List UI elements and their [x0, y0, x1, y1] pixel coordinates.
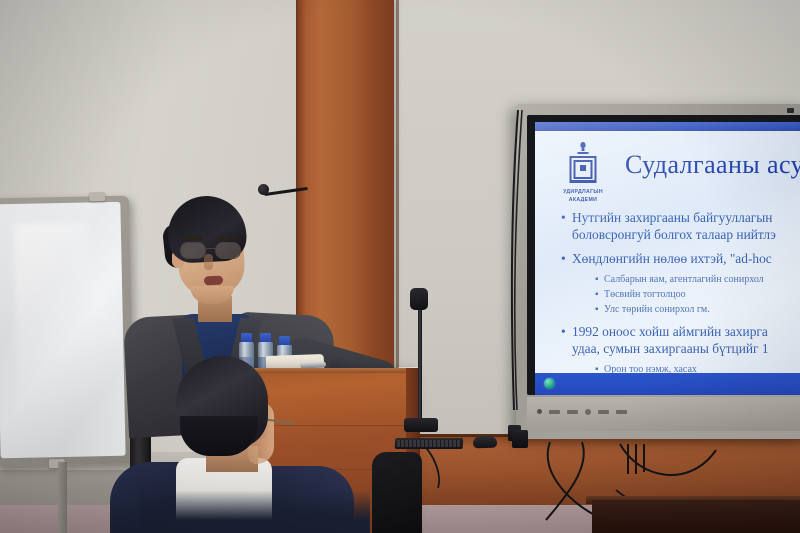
logo-line-2: АКАДЕМИ: [551, 196, 615, 204]
bullet-text: 1992 оноос хойш аймгийн захирга: [572, 324, 768, 339]
whiteboard: [0, 196, 135, 467]
source-button[interactable]: [567, 410, 578, 414]
slide-footer-bar: [535, 373, 800, 395]
slide-top-accent-bar: [535, 122, 800, 131]
whiteboard-glare: [14, 222, 92, 434]
camera-icon: [787, 108, 794, 113]
microphone-stand-base: [404, 418, 438, 432]
computer-mouse[interactable]: [473, 436, 497, 449]
sub-bullet-marker: ▪: [595, 303, 604, 317]
microphone-stand-pole: [418, 300, 422, 422]
logo-mark-icon: [568, 142, 598, 180]
logo-line-1: УДИРДЛАГЫН: [551, 188, 615, 196]
microphone-icon: [258, 184, 269, 195]
presenter-nose: [204, 254, 213, 270]
bullet-marker: •: [561, 251, 572, 268]
bullet-marker: •: [561, 210, 572, 227]
sub-bullet-item: ▪Салбарын яам, агентлагийн сонирхол: [595, 273, 800, 287]
microphone-icon: [410, 288, 428, 310]
presentation-slide: УДИРДЛАГЫН АКАДЕМИ Судалгааны асуудал •Н…: [535, 122, 800, 395]
bullet-text-cont: боловсронгуй болгох талаар нийтлэ: [561, 227, 800, 244]
attendee-shoulders: [140, 490, 370, 533]
bullet-group: •Хөндлөнгийн нөлөө ихтэй, "ad-hoc ▪Салба…: [561, 251, 800, 317]
volume-up-button[interactable]: [598, 410, 609, 414]
display-screen[interactable]: УДИРДЛАГЫН АКАДЕМИ Судалгааны асуудал •Н…: [527, 115, 800, 395]
bullet-text: Нутгийн захиргааны байгууллагын: [572, 210, 772, 225]
sub-bullet-text: Улс төрийн сонирхол гм.: [604, 304, 710, 315]
globe-icon: [544, 378, 555, 389]
device-box: [512, 430, 528, 448]
academy-logo: УДИРДЛАГЫН АКАДЕМИ: [551, 142, 615, 204]
presenter-mouth: [204, 276, 223, 286]
bullet-item: •1992 оноос хойш аймгийн захирга удаа, с…: [561, 324, 800, 358]
display-buttons[interactable]: [549, 409, 627, 415]
slide-title: Судалгааны асуудал: [625, 150, 800, 180]
slide-body: •Нутгийн захиргааны байгууллагын боловср…: [561, 210, 800, 395]
sub-bullet-item: ▪Улс төрийн сонирхол гм.: [595, 303, 800, 317]
whiteboard-clip: [89, 192, 105, 201]
power-button[interactable]: [616, 410, 627, 414]
sub-bullet-text: Төсвийн тогтолцоо: [604, 289, 686, 300]
menu-button[interactable]: [549, 410, 560, 414]
sub-bullet-marker: ▪: [595, 273, 604, 287]
power-led-icon: [537, 409, 542, 414]
chair: [372, 452, 422, 533]
display-control-strip[interactable]: [527, 397, 800, 431]
whiteboard-leg: [58, 462, 67, 533]
volume-down-button[interactable]: [585, 409, 591, 415]
computer-keyboard[interactable]: [395, 438, 464, 449]
sub-bullet-text: Салбарын яам, агентлагийн сонирхол: [604, 274, 764, 285]
bullet-text: Хөндлөнгийн нөлөө ихтэй, "ad-hoc: [572, 251, 772, 266]
bullet-item: •Нутгийн захиргааны байгууллагын боловср…: [561, 210, 800, 244]
bullet-marker: •: [561, 324, 572, 341]
bullet-item: •Хөндлөнгийн нөлөө ихтэй, "ad-hoc: [561, 251, 800, 268]
sub-bullet-item: ▪Төсвийн тогтолцоо: [595, 288, 800, 302]
seated-attendee: [140, 350, 370, 533]
bullet-text-cont: удаа, сумын захиргааны бүтцийг 1: [561, 341, 800, 358]
presentation-room-photo: УДИРДЛАГЫН АКАДЕМИ Судалгааны асуудал •Н…: [0, 0, 800, 533]
whiteboard-surface: [0, 202, 126, 459]
interactive-flat-panel[interactable]: УДИРДЛАГЫН АКАДЕМИ Судалгааны асуудал •Н…: [516, 104, 800, 439]
bullet-group: •Нутгийн захиргааны байгууллагын боловср…: [561, 210, 800, 244]
display-cables: [500, 110, 530, 440]
foreground-table: [592, 500, 800, 533]
sub-bullet-marker: ▪: [595, 288, 604, 302]
